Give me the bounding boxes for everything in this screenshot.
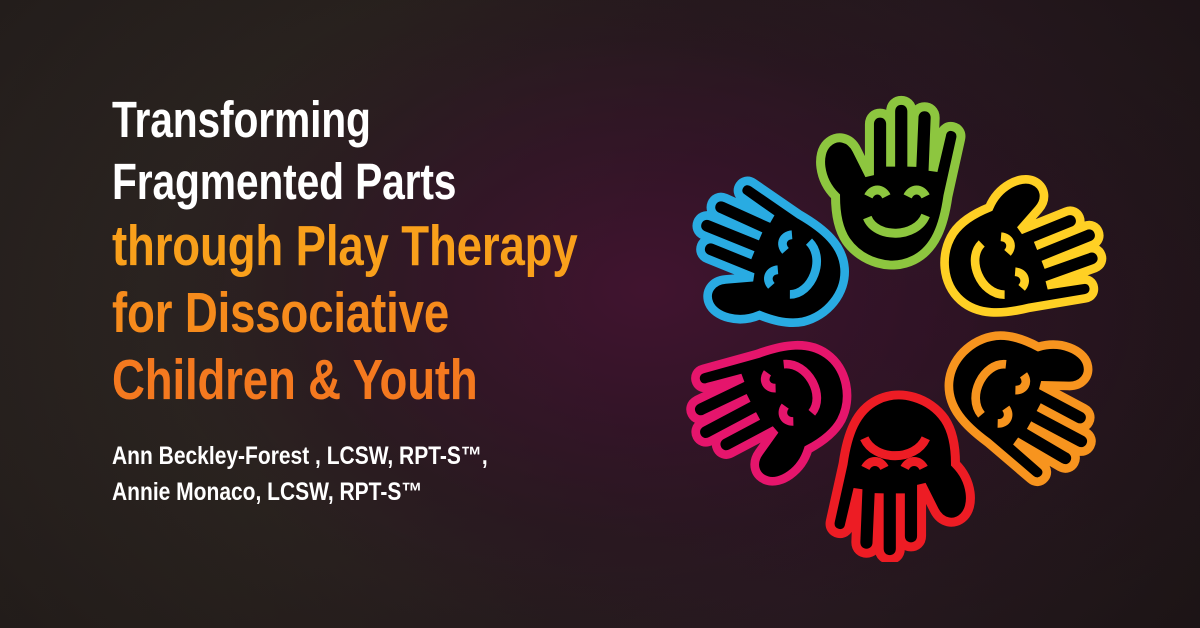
hand-red — [830, 395, 970, 560]
title-line-2: Fragmented Parts — [112, 156, 560, 207]
author-credits: Ann Beckley-Forest , LCSW, RPT-S™, Annie… — [112, 439, 582, 510]
title-line-1: Transforming — [112, 94, 560, 145]
title-line-5: Children & Youth — [112, 352, 560, 409]
title-line-4: for Dissociative — [112, 285, 560, 342]
author-line-1: Ann Beckley-Forest , LCSW, RPT-S™, — [112, 439, 582, 475]
promo-banner: Transforming Fragmented Parts through Pl… — [0, 0, 1200, 628]
hands-circle-illustration — [672, 62, 1122, 562]
title-line-3: through Play Therapy — [112, 218, 560, 275]
hand-green — [821, 100, 961, 265]
title-text-block: Transforming Fragmented Parts through Pl… — [112, 94, 672, 510]
author-line-2: Annie Monaco, LCSW, RPT-S™ — [112, 475, 582, 511]
